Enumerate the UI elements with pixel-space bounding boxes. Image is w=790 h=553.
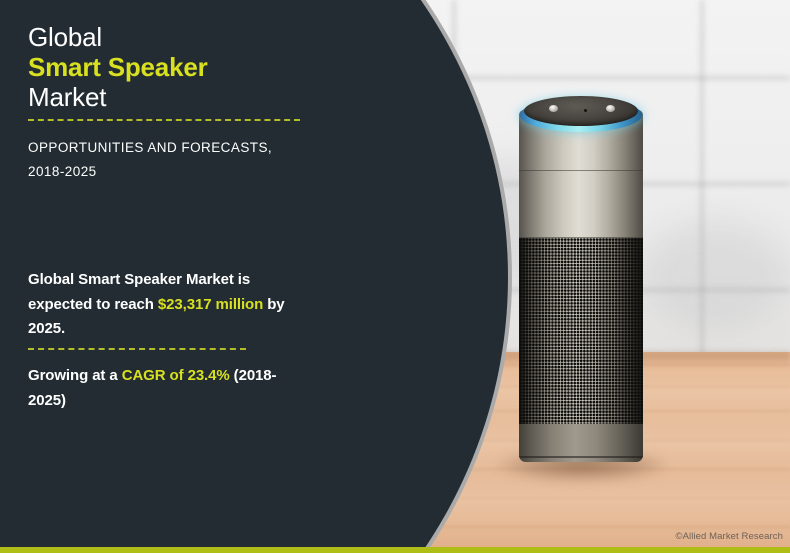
divider-top — [28, 119, 300, 121]
stat-cagr-prefix: Growing at a — [28, 367, 122, 384]
smart-speaker-device — [519, 96, 643, 468]
speaker-grille — [519, 238, 643, 424]
title-line-1: Global — [28, 22, 328, 52]
page-title: Global Smart Speaker Market — [28, 22, 328, 112]
stat-cagr: Growing at a CAGR of 23.4% (2018-2025) — [28, 364, 306, 413]
speaker-top-face — [524, 96, 638, 126]
speaker-seam-line — [519, 170, 643, 171]
divider-middle — [28, 348, 246, 350]
stat-market-size: Global Smart Speaker Market is expected … — [28, 268, 306, 342]
page-subtitle: OPPORTUNITIES AND FORECASTS, 2018-2025 — [28, 136, 308, 184]
speaker-base-line — [519, 456, 643, 458]
speaker-microphone-hole — [584, 109, 587, 112]
credit-attribution: ©Allied Market Research — [675, 531, 783, 542]
stat-market-size-value: $23,317 million — [158, 296, 263, 313]
speaker-button-left — [549, 105, 558, 112]
speaker-body — [519, 110, 643, 462]
stat-cagr-value: CAGR of 23.4% — [122, 367, 230, 384]
speaker-button-right — [606, 105, 615, 112]
infographic-canvas: Global Smart Speaker Market OPPORTUNITIE… — [0, 0, 790, 553]
bottom-accent-bar — [0, 547, 790, 553]
title-line-2: Smart Speaker — [28, 52, 328, 82]
title-line-3: Market — [28, 82, 328, 112]
wall-soft-shadow — [640, 220, 790, 330]
